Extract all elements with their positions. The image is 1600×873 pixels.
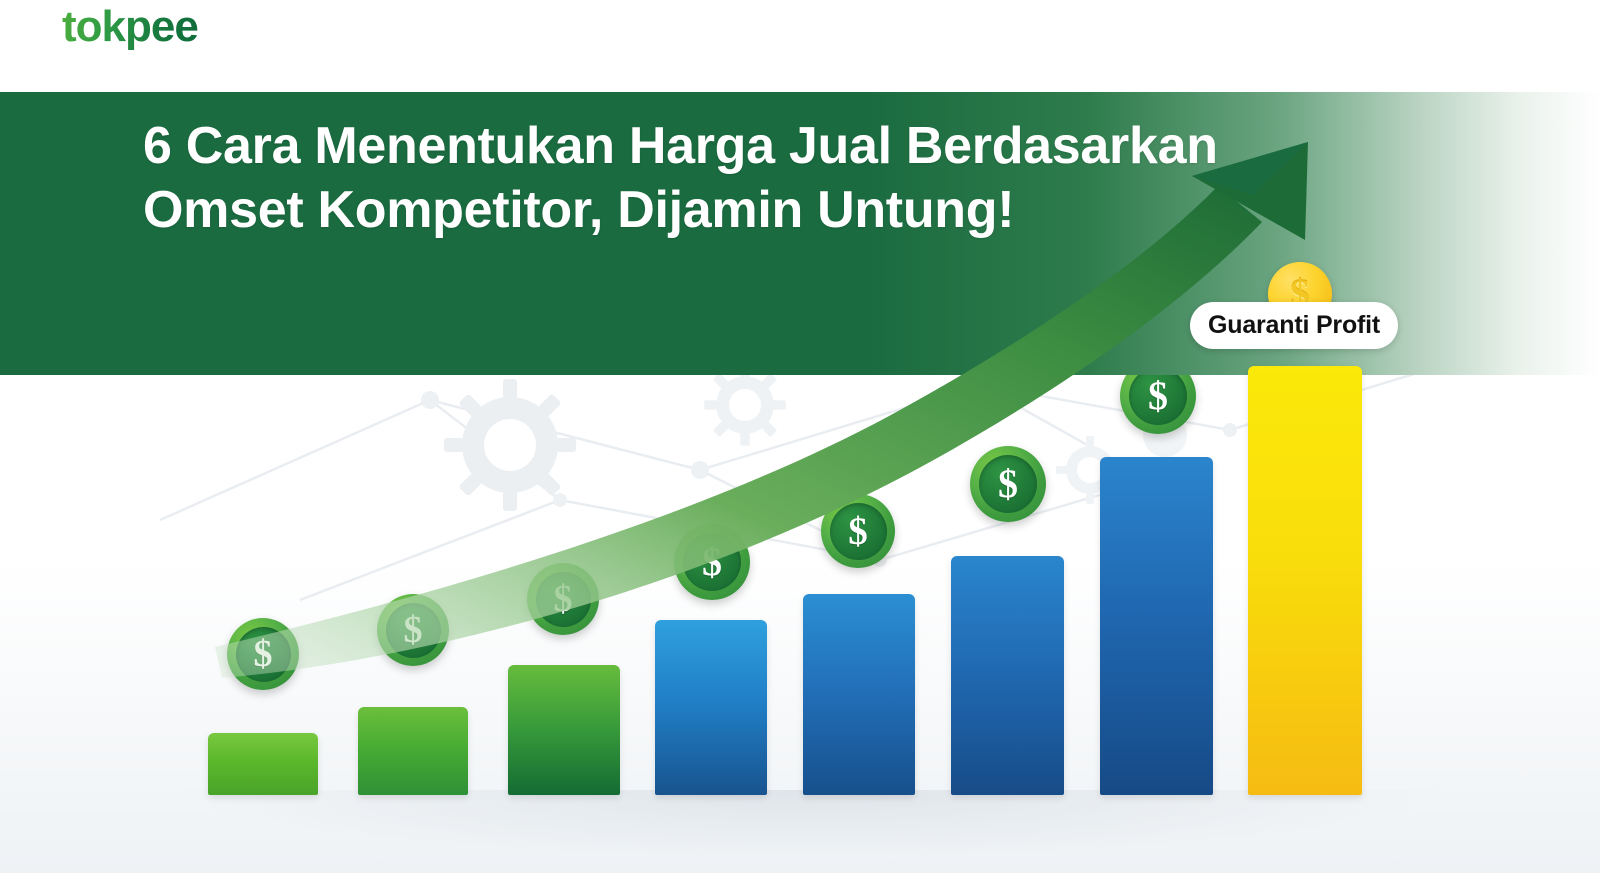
coin-marker-2: $	[377, 594, 449, 666]
brand-logo[interactable]: tokpee	[62, 4, 198, 50]
bar-6	[951, 556, 1064, 795]
bar-8	[1248, 366, 1362, 795]
dollar-sign-icon: $	[998, 464, 1018, 504]
bar-4	[655, 620, 767, 795]
page-title: 6 Cara Menentukan Harga Jual Berdasarkan…	[143, 114, 1353, 243]
dollar-sign-icon: $	[848, 512, 868, 551]
dollar-sign-icon: $	[1148, 376, 1168, 416]
coin-marker-1: $	[227, 618, 299, 690]
status-badge[interactable]: Guaranti Profit	[1190, 302, 1398, 349]
dollar-sign-icon: $	[554, 580, 573, 618]
bar-1	[208, 733, 318, 795]
bar-base-shadow	[150, 790, 1470, 860]
bar-5	[803, 594, 915, 795]
coin-marker-3: $	[527, 563, 599, 635]
poster-canvas: $ $ $ $ $ $	[0, 0, 1600, 873]
bar-7	[1100, 457, 1213, 795]
bar-2	[358, 707, 468, 795]
coin-marker-6: $	[970, 446, 1046, 522]
status-badge-label: Guaranti Profit	[1208, 311, 1380, 340]
coin-marker-4: $	[674, 524, 750, 600]
coin-marker-5: $	[821, 494, 895, 568]
dollar-sign-icon: $	[404, 611, 423, 649]
bar-3	[508, 665, 620, 795]
dollar-sign-icon: $	[702, 542, 722, 582]
dollar-sign-icon: $	[254, 635, 273, 673]
